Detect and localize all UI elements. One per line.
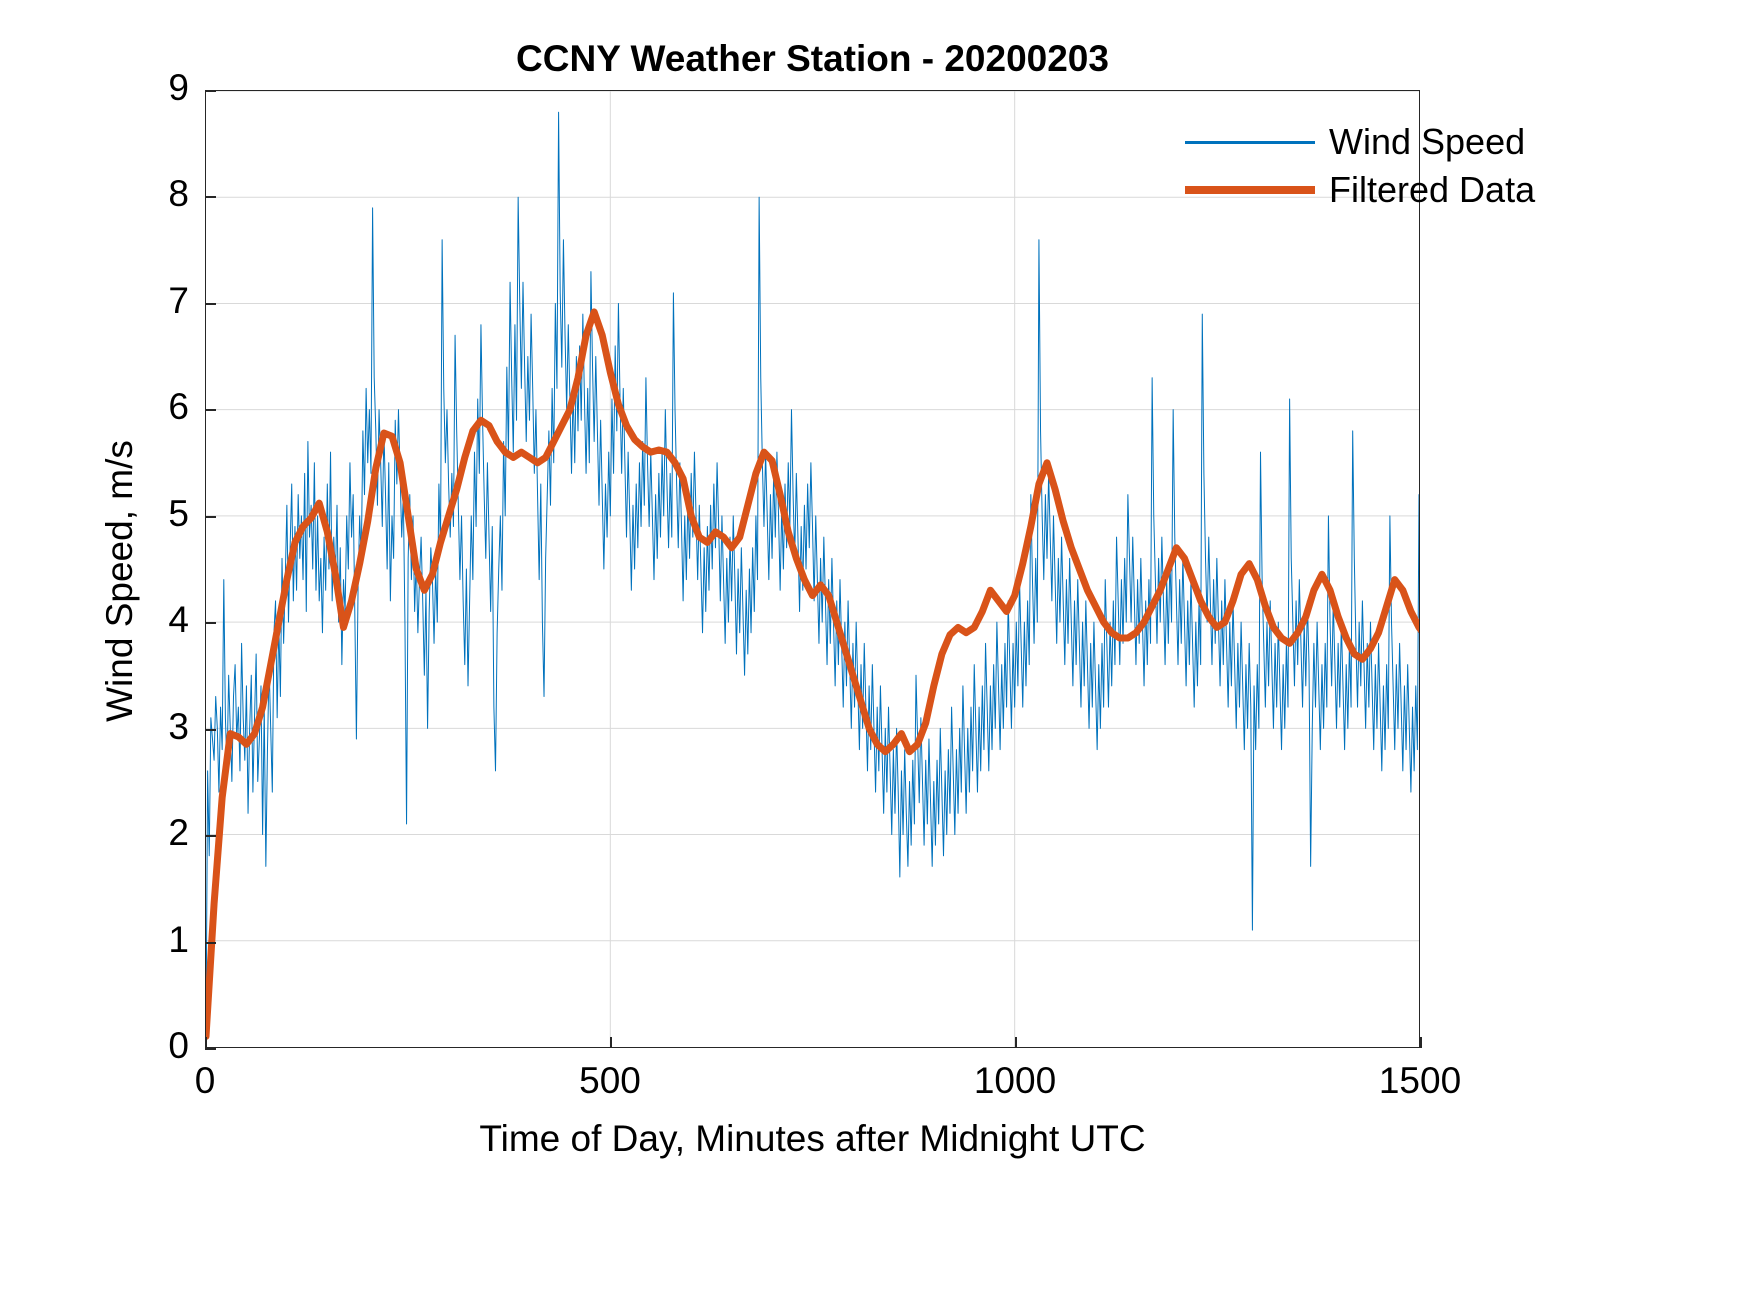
series-wind-speed bbox=[206, 112, 1419, 1036]
x-tick-label-1000: 1000 bbox=[915, 1062, 1115, 1099]
y-axis-label: Wind Speed, m/s bbox=[99, 101, 141, 1061]
x-axis-label: Time of Day, Minutes after Midnight UTC bbox=[205, 1118, 1420, 1160]
x-tick-label-1500: 1500 bbox=[1320, 1062, 1520, 1099]
x-tick-mark-500 bbox=[610, 1037, 612, 1048]
legend-swatch-filtered-data bbox=[1185, 186, 1315, 194]
legend-label-filtered-data: Filtered Data bbox=[1329, 169, 1535, 211]
legend-item-wind-speed[interactable]: Wind Speed bbox=[1185, 118, 1410, 166]
y-tick-mark-2 bbox=[205, 835, 216, 837]
y-tick-label-8: 8 bbox=[129, 175, 189, 212]
y-tick-mark-9 bbox=[205, 90, 216, 92]
y-tick-label-1: 1 bbox=[129, 921, 189, 958]
plot-area bbox=[205, 90, 1420, 1048]
y-tick-mark-3 bbox=[205, 729, 216, 731]
y-tick-label-7: 7 bbox=[129, 282, 189, 319]
y-tick-label-4: 4 bbox=[129, 601, 189, 638]
y-tick-mark-6 bbox=[205, 409, 216, 411]
x-tick-label-500: 500 bbox=[510, 1062, 710, 1099]
y-tick-label-0: 0 bbox=[129, 1027, 189, 1064]
y-tick-mark-0 bbox=[205, 1048, 216, 1050]
chart-legend[interactable]: Wind Speed Filtered Data bbox=[1185, 118, 1410, 214]
y-tick-label-9: 9 bbox=[129, 69, 189, 106]
y-tick-label-6: 6 bbox=[129, 388, 189, 425]
figure-canvas: CCNY Weather Station - 20200203 Wind Spe… bbox=[0, 0, 1750, 1313]
data-layer bbox=[206, 91, 1419, 1047]
x-tick-mark-0 bbox=[205, 1037, 207, 1048]
y-tick-mark-7 bbox=[205, 303, 216, 305]
x-tick-mark-1000 bbox=[1015, 1037, 1017, 1048]
chart-title: CCNY Weather Station - 20200203 bbox=[205, 38, 1420, 80]
x-tick-mark-1500 bbox=[1420, 1037, 1422, 1048]
legend-label-wind-speed: Wind Speed bbox=[1329, 121, 1525, 163]
y-tick-label-5: 5 bbox=[129, 495, 189, 532]
y-tick-mark-1 bbox=[205, 942, 216, 944]
y-tick-label-3: 3 bbox=[129, 708, 189, 745]
y-tick-mark-5 bbox=[205, 516, 216, 518]
y-tick-mark-4 bbox=[205, 622, 216, 624]
legend-item-filtered-data[interactable]: Filtered Data bbox=[1185, 166, 1410, 214]
y-tick-mark-8 bbox=[205, 196, 216, 198]
y-tick-label-2: 2 bbox=[129, 814, 189, 851]
legend-swatch-wind-speed bbox=[1185, 141, 1315, 144]
x-tick-label-0: 0 bbox=[105, 1062, 305, 1099]
